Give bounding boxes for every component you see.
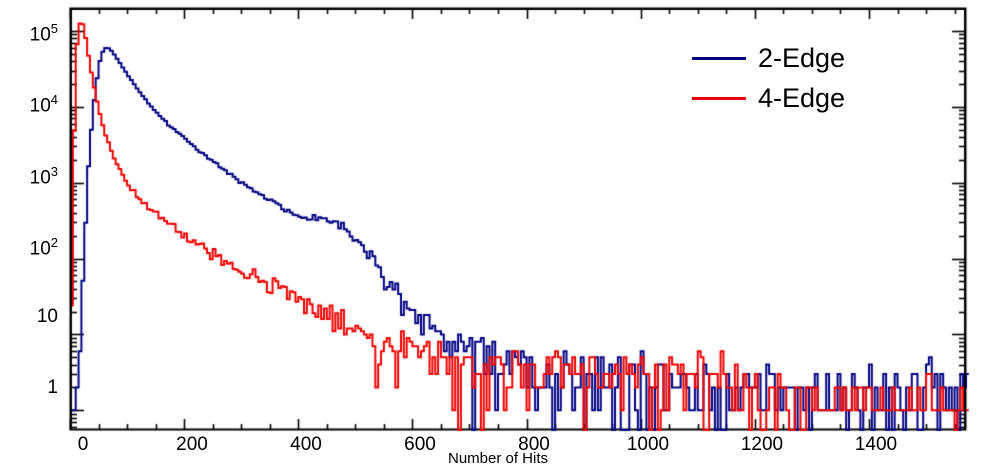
legend-swatch-4-edge: [692, 97, 746, 100]
legend-entry-2-edge: 2-Edge: [692, 38, 845, 78]
x-axis-title: Number of Hits: [0, 450, 996, 467]
y-tick-label-10000: 104: [14, 92, 58, 117]
chart-canvas: 105 104 103 102 10 1 0 200 400 600 800 1…: [0, 0, 996, 472]
y-tick-label-10: 10: [14, 306, 58, 328]
legend: 2-Edge 4-Edge: [692, 38, 845, 118]
histogram-plot-canvas: [0, 0, 996, 472]
y-tick-label-100: 102: [14, 235, 58, 260]
y-tick-label-1000: 103: [14, 164, 58, 189]
legend-label-2-edge: 2-Edge: [758, 43, 845, 74]
legend-swatch-2-edge: [692, 57, 746, 60]
legend-label-4-edge: 4-Edge: [758, 83, 845, 114]
y-tick-label-1: 1: [14, 377, 58, 399]
legend-entry-4-edge: 4-Edge: [692, 78, 845, 118]
y-tick-label-100000: 105: [14, 21, 58, 46]
